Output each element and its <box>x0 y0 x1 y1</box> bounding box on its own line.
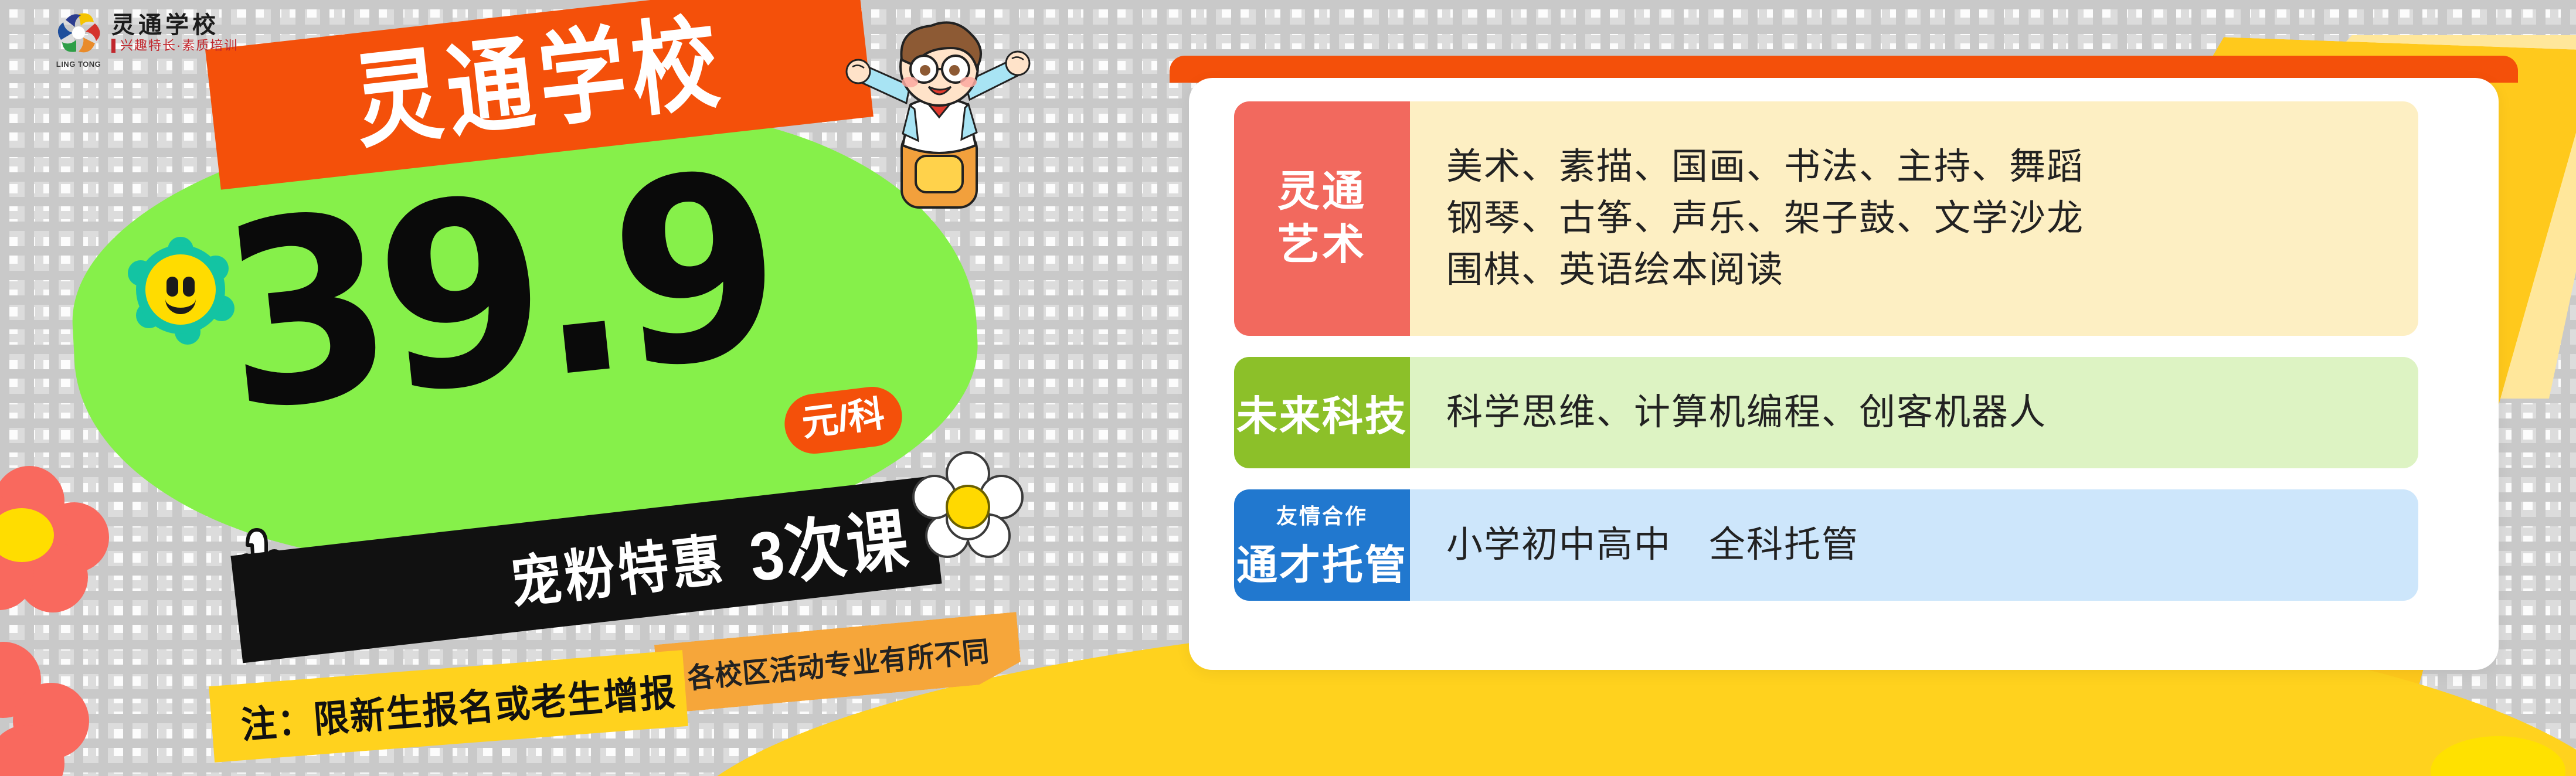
course-body-tech: 科学思维、计算机编程、创客机器人 <box>1410 357 2418 468</box>
course-label-art-line1: 灵通 <box>1277 165 1367 219</box>
daisy-flower-icon <box>912 451 1024 563</box>
course-label-tech: 未来科技 <box>1234 357 1410 468</box>
course-row-art[interactable]: 灵通 艺术 美术、素描、国画、书法、主持、舞蹈 钢琴、古筝、声乐、架子鼓、文学沙… <box>1234 101 2418 336</box>
course-body-tutoring: 小学初中高中 全科托管 <box>1410 489 2418 601</box>
note-side-text: 各校区活动专业有所不同 <box>685 629 991 697</box>
price-amount: 39.9 <box>212 138 782 447</box>
smiley-face-icon <box>136 245 225 334</box>
course-label-tutoring-kicker: 友情合作 <box>1276 499 1368 530</box>
brand-logo[interactable]: LING TONG 灵通学校 兴趣特长·素质培训 <box>54 8 238 57</box>
courses-card: 灵通 艺术 美术、素描、国画、书法、主持、舞蹈 钢琴、古筝、声乐、架子鼓、文学沙… <box>1170 56 2518 690</box>
course-label-art: 灵通 艺术 <box>1234 101 1410 336</box>
course-body-art: 美术、素描、国画、书法、主持、舞蹈 钢琴、古筝、声乐、架子鼓、文学沙龙 围棋、英… <box>1410 101 2418 336</box>
course-row-tech[interactable]: 未来科技 科学思维、计算机编程、创客机器人 <box>1234 357 2418 468</box>
red-flower-icon <box>0 466 116 612</box>
course-art-line-3: 围棋、英语绘本阅读 <box>1446 244 2418 296</box>
course-art-line-2: 钢琴、古筝、声乐、架子鼓、文学沙龙 <box>1446 193 2418 244</box>
course-label-art-line2: 艺术 <box>1277 219 1367 272</box>
course-tech-line-1: 科学思维、计算机编程、创客机器人 <box>1446 387 2418 438</box>
logo-tagline: 兴趣特长·素质培训 <box>111 39 238 52</box>
logo-latin-text: LING TONG <box>54 60 103 69</box>
pinwheel-logo-icon: LING TONG <box>54 8 103 57</box>
course-label-tutoring: 友情合作 通才托管 <box>1234 489 1410 601</box>
course-rows: 灵通 艺术 美术、素描、国画、书法、主持、舞蹈 钢琴、古筝、声乐、架子鼓、文学沙… <box>1234 101 2418 601</box>
ribbon-right-text: 3次课 <box>744 484 913 600</box>
student-boy-illustration <box>841 16 1034 222</box>
course-label-tutoring-main: 通才托管 <box>1236 532 1408 591</box>
banner-stage: 灵通学校 <box>0 0 2576 776</box>
course-art-line-1: 美术、素描、国画、书法、主持、舞蹈 <box>1446 141 2418 193</box>
ribbon-left-text: 宠粉特惠 <box>506 513 729 619</box>
red-flower-icon-2 <box>0 642 82 776</box>
course-row-tutoring[interactable]: 友情合作 通才托管 小学初中高中 全科托管 <box>1234 489 2418 601</box>
course-tutoring-line-1: 小学初中高中 全科托管 <box>1446 519 2418 571</box>
logo-brand-name: 灵通学校 <box>111 13 238 38</box>
